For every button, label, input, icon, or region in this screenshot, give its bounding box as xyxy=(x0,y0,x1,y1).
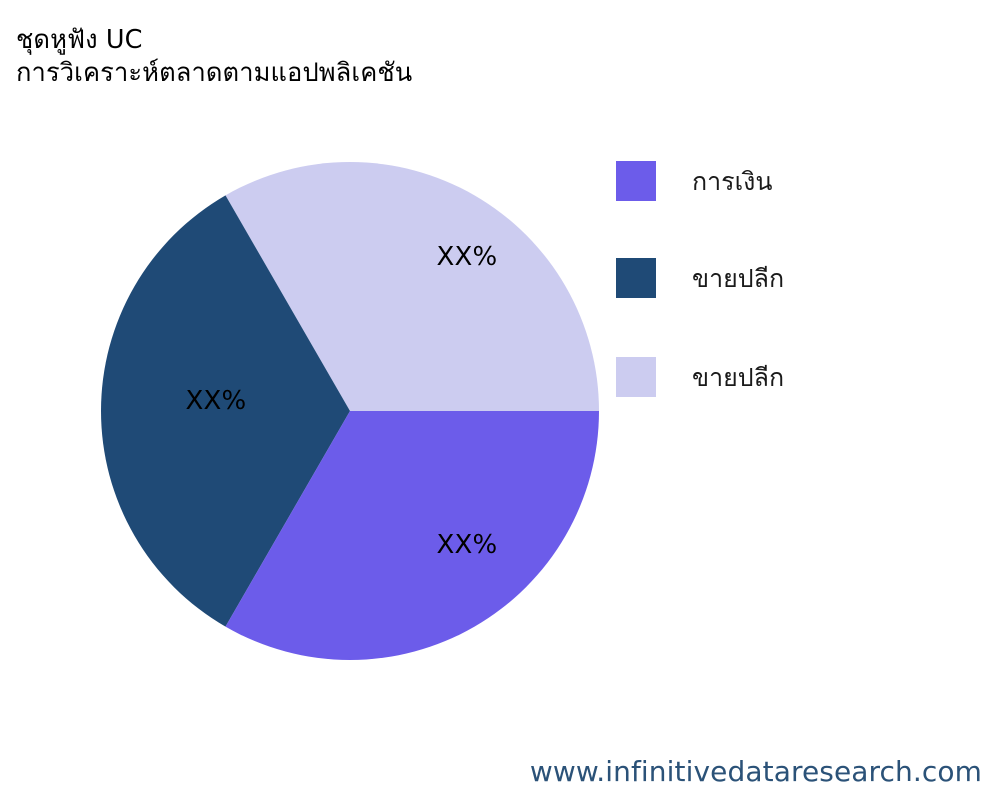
pie-slice-label-darkblue: XX% xyxy=(186,386,247,416)
legend-swatch-icon-2 xyxy=(616,357,656,397)
pie-svg xyxy=(95,156,605,666)
pie-plot-area: XX% XX% XX% xyxy=(95,156,605,666)
pie-slice-label-purple: XX% xyxy=(437,530,498,560)
pie-slice-group xyxy=(101,162,599,660)
legend-label-2: ขายปลีก xyxy=(692,365,784,390)
legend-item-0: การเงิน xyxy=(616,158,772,204)
chart-title-line-2: การวิเคราะห์ตลาดตามแอปพลิเคชัน xyxy=(16,57,636,90)
legend-item-2: ขายปลีก xyxy=(616,354,784,400)
source-website-url: www.infinitivedataresearch.com xyxy=(530,755,982,788)
legend-label-1: ขายปลีก xyxy=(692,266,784,291)
pie-slice-label-lavender: XX% xyxy=(437,242,498,272)
legend-item-1: ขายปลีก xyxy=(616,255,784,301)
chart-title-line-1: ชุดหูฟัง UC xyxy=(16,24,636,57)
legend-swatch-icon-1 xyxy=(616,258,656,298)
legend-swatch-icon-0 xyxy=(616,161,656,201)
legend-label-0: การเงิน xyxy=(692,169,772,194)
chart-title: ชุดหูฟัง UC การวิเคราะห์ตลาดตามแอปพลิเคช… xyxy=(16,24,636,90)
pie-chart-figure: ชุดหูฟัง UC การวิเคราะห์ตลาดตามแอปพลิเคช… xyxy=(0,0,1000,800)
